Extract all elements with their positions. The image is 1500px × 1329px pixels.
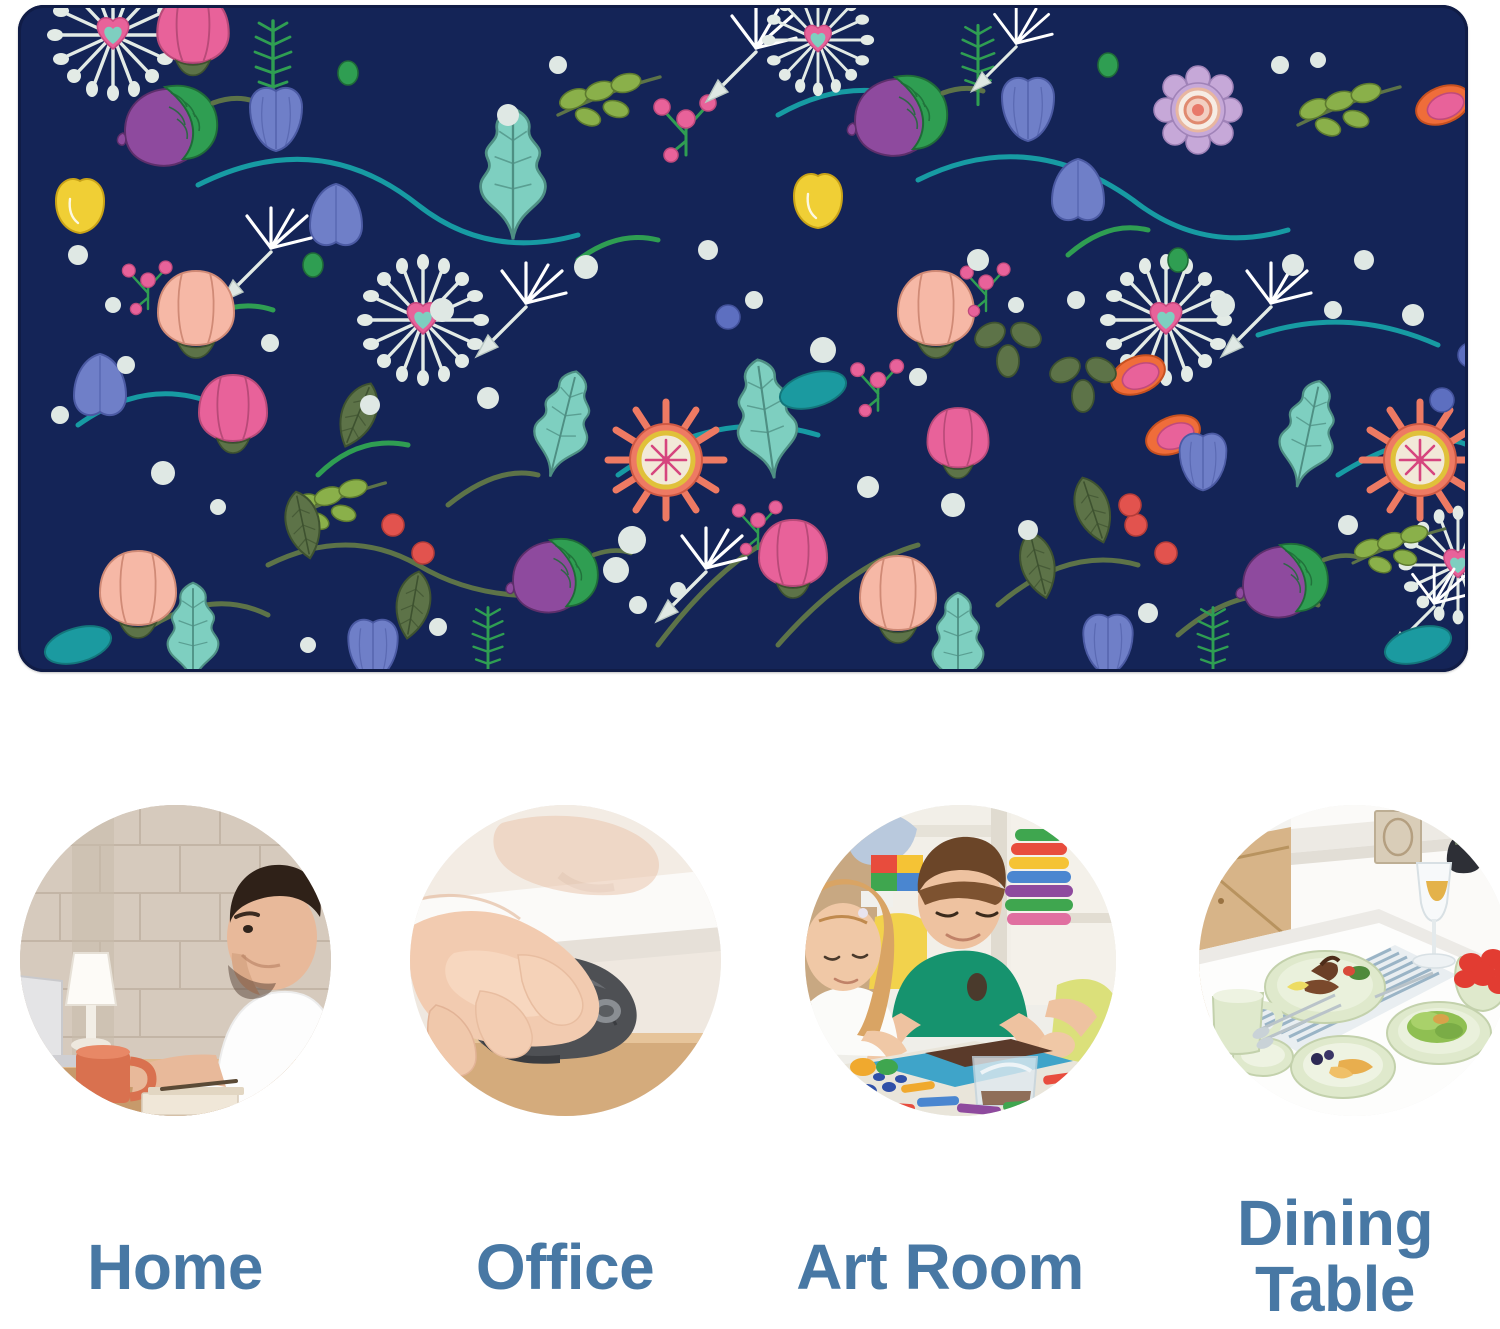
home-scene-illustration	[20, 805, 331, 1116]
scene-label-office: Office	[370, 1234, 760, 1300]
floral-pattern	[18, 5, 1468, 672]
scene-photo-home	[20, 805, 331, 1116]
product-listing-page: Home Office Art Room Dining Table	[0, 0, 1500, 1329]
stacking-rings	[1005, 829, 1073, 925]
salad-plate	[1387, 1002, 1491, 1064]
desk-mat	[18, 5, 1468, 672]
scene-photo-art-room	[805, 805, 1116, 1116]
dining-table-scene-illustration	[1199, 805, 1500, 1116]
scene-label-home: Home	[0, 1234, 370, 1300]
clear-jar	[973, 1057, 1037, 1105]
clay-piece	[967, 973, 987, 1001]
fruit-bowl	[1291, 1036, 1395, 1098]
scene-label-dining-table: Dining Table	[1140, 1190, 1500, 1322]
office-scene-illustration	[410, 805, 721, 1116]
art-room-scene-illustration	[805, 805, 1116, 1116]
scene-photo-dining-table	[1199, 805, 1500, 1116]
salad	[1407, 1011, 1467, 1043]
blueberry	[1311, 1053, 1323, 1065]
picture-frame	[1375, 811, 1421, 863]
scene-label-dining-table-line1: Dining	[1237, 1187, 1433, 1259]
scene-label-art-room: Art Room	[745, 1234, 1135, 1300]
tomato	[1343, 966, 1355, 976]
clay-green	[876, 1059, 898, 1075]
desk-mat-surface	[18, 5, 1468, 672]
clay-orange	[850, 1058, 876, 1076]
decor-object	[1447, 837, 1483, 873]
usage-scene-gallery	[0, 805, 1500, 1120]
scene-label-row: Home Office Art Room Dining Table	[0, 1196, 1500, 1329]
scene-photo-office	[410, 805, 721, 1116]
scene-label-dining-table-line2: Table	[1140, 1256, 1500, 1322]
blueberry	[1324, 1050, 1334, 1060]
